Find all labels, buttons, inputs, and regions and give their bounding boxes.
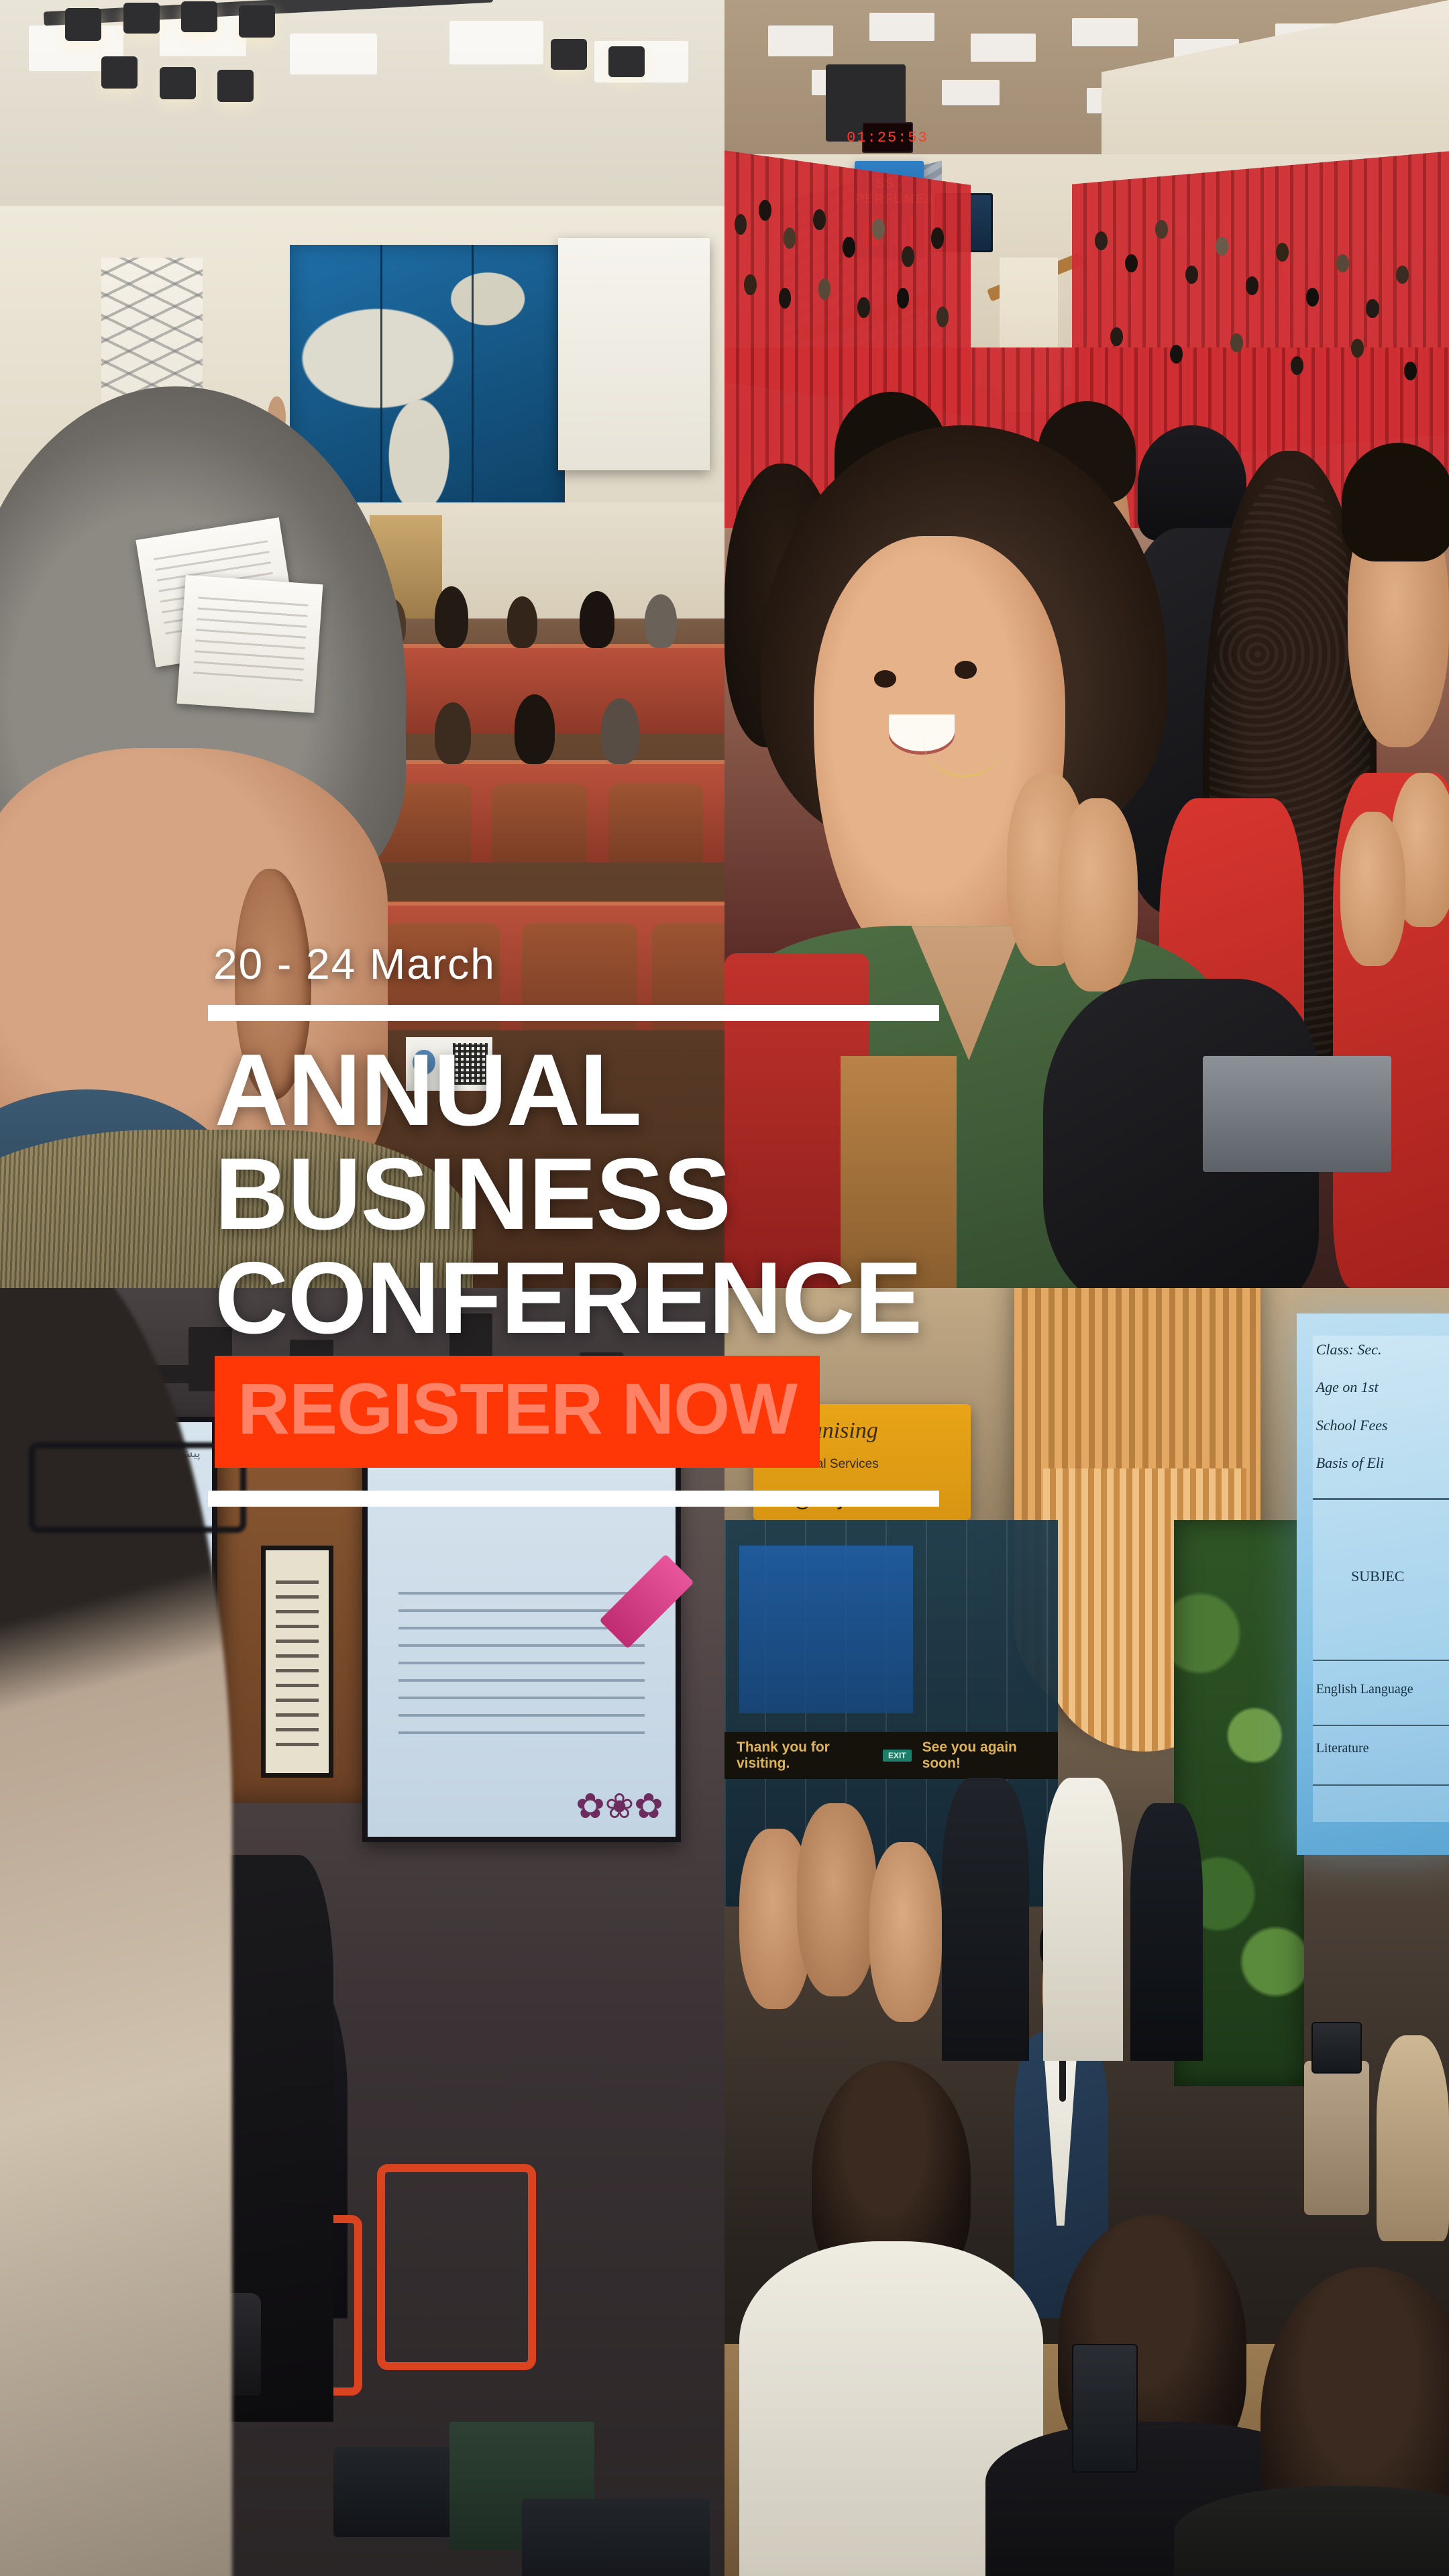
divider-rule-bottom (208, 1491, 939, 1507)
attendee (869, 1842, 942, 2023)
slide-line: Age on 1st (1316, 1379, 1379, 1396)
stage-light (217, 70, 254, 102)
stool (1304, 2061, 1369, 2215)
slide-line: Class: Sec. (1316, 1341, 1382, 1358)
crowd (724, 168, 971, 400)
slide-subject: English Language (1316, 1682, 1413, 1697)
stage-light (160, 67, 196, 99)
laptop (1203, 1056, 1391, 1172)
ceiling-light (449, 21, 543, 64)
exit-message-bar: Thank you for visiting. EXIT See you aga… (724, 1732, 1058, 1778)
armchair (1377, 2035, 1449, 2241)
ceiling-light (971, 34, 1036, 62)
clapping-hand (1058, 798, 1138, 991)
stage-light (123, 3, 160, 34)
tablet (1311, 2022, 1362, 2074)
crowd (1072, 180, 1449, 464)
led-timer: 01:25:53 (862, 122, 913, 153)
title-line-1: ANNUAL (208, 1038, 939, 1142)
ceiling-light (869, 13, 934, 41)
register-now-button[interactable]: REGISTER NOW (215, 1356, 820, 1468)
clapping-hand (1340, 812, 1405, 966)
ceiling-light (290, 34, 377, 74)
slide-line: Basis of Eli (1316, 1454, 1384, 1472)
event-date: 20 - 24 March (208, 939, 939, 989)
blue-signage (739, 1546, 913, 1713)
title-line-2: BUSINESS (208, 1142, 939, 1246)
stage-light (608, 46, 645, 77)
title-line-3: CONFERENCE (208, 1246, 939, 1350)
stage-light (101, 56, 138, 89)
ceiling-light (768, 25, 833, 56)
projection-screen (558, 238, 710, 470)
slide-heading: SUBJEC (1351, 1568, 1404, 1585)
necklace (923, 703, 1004, 777)
exit-bar-left-text: Thank you for visiting. (737, 1739, 872, 1772)
orange-chair (377, 2164, 537, 2370)
ceiling-light (1072, 18, 1137, 46)
attendee-dark (942, 1778, 1029, 2061)
stage-light (65, 8, 101, 42)
phone (1072, 2344, 1137, 2473)
ceiling-light (942, 80, 1000, 105)
divider-rule-top (208, 1005, 939, 1021)
event-title: ANNUAL BUSINESS CONFERENCE (208, 1038, 939, 1350)
attendee (1348, 490, 1449, 747)
laptop (522, 2499, 710, 2576)
conference-poster: 01:25:53 SS / PERFUMES (0, 0, 1449, 2576)
attendee-dark (1130, 1803, 1203, 2061)
attendee-white-shirt (1043, 1778, 1123, 2061)
slide-subject: Literature (1316, 1741, 1369, 1756)
projected-slide: Class: Sec. Age on 1st School Fees Basis… (1297, 1313, 1449, 1854)
programme-paper (177, 575, 323, 713)
exit-sign: EXIT (883, 1750, 912, 1762)
wall-art-frame (261, 1546, 333, 1778)
attendee (797, 1803, 877, 1996)
exit-bar-right-text: See you again soon! (922, 1739, 1046, 1772)
stage-light (551, 39, 587, 70)
slide-line: School Fees (1316, 1417, 1388, 1434)
poster-text-overlay: 20 - 24 March ANNUAL BUSINESS CONFERENCE… (208, 939, 939, 1507)
stage-light (239, 5, 275, 38)
stage-light (181, 1, 217, 32)
